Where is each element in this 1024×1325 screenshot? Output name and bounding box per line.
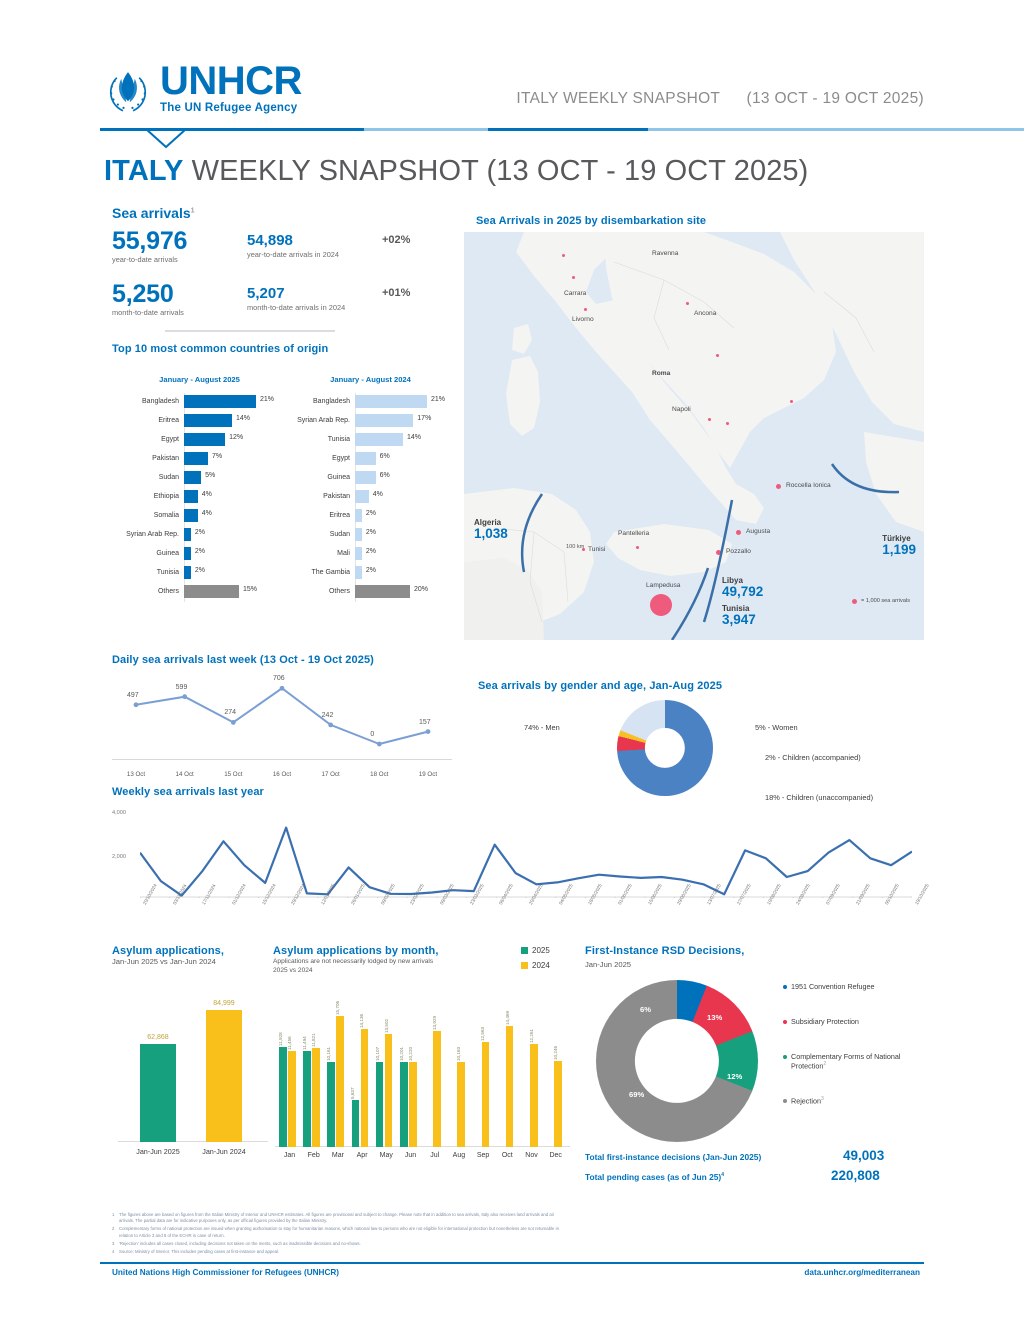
map-route-turkiye-value: 1,199: [882, 543, 916, 558]
monthly-bar-2025: 11,928: [279, 1047, 287, 1147]
top10-bar-row: Pakistan4%: [283, 487, 458, 506]
footnote: 4Source: Ministry of Interior. This incl…: [112, 1249, 562, 1255]
monthly-bar-value: 10,220: [408, 1046, 413, 1060]
top10-bar-label: Egypt: [112, 436, 184, 443]
rsd-pct-rejection: 69%: [629, 1090, 644, 1099]
top10-bar-label: Mali: [283, 550, 355, 557]
top10-bar-value: 2%: [195, 567, 205, 574]
monthly-bar-value: 10,107: [375, 1047, 380, 1061]
top10-bar-fill: [355, 528, 362, 541]
top10-bar-track: 21%: [355, 395, 433, 408]
top10-bar-row: Syrian Arab Rep.2%: [112, 525, 287, 544]
top10-bar-value: 15%: [243, 586, 257, 593]
top10-bar-label: Guinea: [283, 474, 355, 481]
monthly-bar-category: Aug: [453, 1152, 465, 1159]
monthly-legend-2024: 2024: [521, 961, 550, 970]
top10-bar-row: Ethiopia4%: [112, 487, 287, 506]
monthly-bar-2024: 14,136: [361, 1029, 369, 1147]
map-route-algeria: Algeria 1,038: [474, 518, 508, 542]
footnote-number: 2: [112, 1226, 119, 1239]
footnote-text: Source: Ministry of Interior. This inclu…: [119, 1249, 279, 1255]
asylum-bar-chart: 62,868Jan-Jun 202584,999Jan-Jun 2024: [118, 980, 268, 1160]
monthly-bar-value: 11,821: [311, 1033, 316, 1047]
top10-bar-label: Others: [283, 588, 355, 595]
top10-bar-row: Guinea2%: [112, 544, 287, 563]
top10-bar-fill: [355, 471, 376, 484]
top10-bar-row: Guinea6%: [283, 468, 458, 487]
top10-bar-row: Others20%: [283, 582, 458, 601]
rsd-total-value: 49,003: [843, 1148, 884, 1163]
monthly-bar-value: 13,929: [432, 1015, 437, 1029]
daily-point-value: 0: [370, 731, 374, 738]
top10-bar-fill: [184, 566, 191, 579]
footnote-text: 'Rejection' includes all cases closed, i…: [119, 1241, 361, 1247]
rsd-dot-subsidiary-icon: [783, 1020, 787, 1024]
daily-x-tick: 14 Oct: [161, 771, 209, 778]
gender-label-men: 74% - Men: [524, 723, 560, 732]
rsd-subheading: Jan-Jun 2025: [585, 960, 631, 969]
footnotes-list: 1The figures above are based on figures …: [112, 1212, 562, 1257]
top10-bar-row: Mali2%: [283, 544, 458, 563]
top10-bar-row: Egypt6%: [283, 449, 458, 468]
footnote: 1The figures above are based on figures …: [112, 1212, 562, 1225]
header-right-text: ITALY WEEKLY SNAPSHOT (13 OCT - 19 OCT 2…: [516, 90, 924, 108]
map-route-turkiye: Türkiye 1,199: [882, 534, 916, 558]
top10-bar-fill: [355, 452, 376, 465]
map-route-arcs: [464, 232, 924, 640]
weekly-arrivals-chart: 4,000 2,000 20/10/202403/11/202417/11/20…: [112, 802, 912, 934]
rsd-heading: First-Instance RSD Decisions,: [585, 945, 744, 957]
asylum-bar: 62,868Jan-Jun 2025: [140, 1044, 176, 1142]
top10-bar-label: Bangladesh: [283, 398, 355, 405]
monthly-bar-2024: 10,246: [554, 1061, 562, 1147]
monthly-legend: 2025 2024: [521, 946, 550, 976]
disembarkation-map[interactable]: Ravenna Carrara Livorno Ancona Roma Napo…: [464, 232, 924, 640]
map-heading: Sea Arrivals in 2025 by disembarkation s…: [476, 215, 706, 227]
monthly-sub1: Applications are not necessarily lodged …: [273, 958, 433, 965]
weekly-x-tick: 19/10/2025: [914, 883, 930, 905]
gender-donut-hole: [645, 728, 685, 768]
daily-point: [231, 720, 236, 725]
top10-bar-value: 17%: [417, 415, 431, 422]
top10-bar-value: 2%: [366, 567, 376, 574]
monthly-bar-category: Jan: [284, 1152, 295, 1159]
top10-2024-title: January - August 2024: [283, 375, 458, 384]
top10-bar-label: Tunisia: [283, 436, 355, 443]
header-rule-seg-1: [364, 128, 488, 131]
top10-bar-fill: [355, 490, 369, 503]
map-legend: = 1,000 sea arrivals: [852, 598, 910, 604]
asylum-bar-category: Jan-Jun 2025: [136, 1147, 180, 1156]
rsd-legend-item-refugee: 1951 Convention Refugee: [783, 982, 928, 991]
daily-point: [328, 722, 333, 727]
rsd-legend-item-complementary: Complementary Forms of National Protecti…: [783, 1052, 928, 1070]
daily-point: [182, 694, 187, 699]
map-route-libya-value: 49,792: [722, 585, 763, 600]
top10-bar-value: 6%: [380, 453, 390, 460]
top10-bar-fill: [184, 490, 198, 503]
monthly-bar-value: 12,261: [529, 1029, 534, 1043]
top10-bar-fill: [184, 433, 225, 446]
top10-bar-fill: [184, 452, 208, 465]
top10-bar-fill: [184, 528, 191, 541]
rsd-dot-refugee-icon: [783, 985, 787, 989]
top10-bar-fill: [184, 395, 256, 408]
monthly-bar-value: 13,502: [384, 1019, 389, 1033]
top10-bar-fill: [355, 509, 362, 522]
top10-bar-value: 4%: [373, 491, 383, 498]
top10-bar-track: 20%: [355, 585, 433, 598]
top10-bar-track: 14%: [184, 414, 262, 427]
footnote-number: 4: [112, 1249, 119, 1255]
daily-point-value: 242: [322, 712, 334, 719]
rsd-dot-complementary-icon: [783, 1055, 787, 1059]
top10-bar-value: 5%: [205, 472, 215, 479]
top10-bar-label: Pakistan: [112, 455, 184, 462]
top10-bar-label: Pakistan: [283, 493, 355, 500]
rsd-sup-rejection: 3: [821, 1096, 824, 1102]
mtd-change-pct: +01%: [382, 287, 410, 299]
rsd-legend-item-subsidiary: Subsidiary Protection: [783, 1017, 928, 1026]
page-title-country: ITALY: [104, 155, 183, 187]
rsd-legend-item-rejection: Rejection3: [783, 1096, 928, 1105]
monthly-bar-2025: 10,107: [376, 1062, 384, 1147]
daily-point: [134, 702, 139, 707]
header-date-range: (13 OCT - 19 OCT 2025): [747, 90, 924, 107]
top10-bar-value: 7%: [212, 453, 222, 460]
top10-bar-label: Syrian Arab Rep.: [112, 531, 184, 538]
monthly-bar-category: Jun: [405, 1152, 416, 1159]
monthly-bar-chart: 11,92811,456Jan11,49411,821Feb10,16115,7…: [275, 990, 570, 1165]
rsd-pending-label-text: Total pending cases (as of Jun 25): [585, 1172, 721, 1182]
top10-bar-label: Eritrea: [283, 512, 355, 519]
daily-point-value: 157: [419, 719, 431, 726]
monthly-bar-value: 5,637: [350, 1087, 355, 1099]
monthly-bar-category: Jul: [430, 1152, 439, 1159]
top10-bar-track: 15%: [184, 585, 262, 598]
top10-bar-value: 2%: [366, 510, 376, 517]
top10-bar-value: 14%: [236, 415, 250, 422]
top10-bar-track: 2%: [355, 528, 433, 541]
footnote-text: The figures above are based on figures f…: [119, 1212, 562, 1225]
top10-bar-row: Eritrea14%: [112, 411, 287, 430]
top10-bar-fill: [355, 433, 403, 446]
top10-bar-row: Sudan5%: [112, 468, 287, 487]
top10-heading: Top 10 most common countries of origin: [112, 343, 328, 355]
rsd-legend-label-subsidiary: Subsidiary Protection: [791, 1017, 859, 1026]
top10-bar-label: Guinea: [112, 550, 184, 557]
daily-point: [426, 729, 431, 734]
asylum-bar-category: Jan-Jun 2024: [202, 1147, 246, 1156]
gender-label-children-unaccompanied: 18% - Children (unaccompanied): [765, 793, 873, 802]
top10-bar-fill: [355, 566, 362, 579]
gender-label-women: 5% - Women: [755, 723, 798, 732]
monthly-bar-value: 12,563: [480, 1027, 485, 1041]
top10-bar-row: Bangladesh21%: [283, 392, 458, 411]
footer-url[interactable]: data.unhcr.org/mediterranean: [804, 1268, 920, 1277]
top10-bar-track: 2%: [355, 547, 433, 560]
sea-arrivals-heading-text: Sea arrivals: [112, 205, 191, 221]
daily-x-labels: 13 Oct14 Oct15 Oct16 Oct17 Oct18 Oct19 O…: [112, 771, 452, 778]
monthly-bar-category: Dec: [549, 1152, 561, 1159]
daily-point-value: 497: [127, 692, 139, 699]
page-header: UNHCR The UN Refugee Agency ITALY WEEKLY…: [100, 62, 924, 134]
monthly-bar-value: 15,706: [335, 1001, 340, 1015]
asylum-bar-fill: [206, 1010, 242, 1142]
monthly-bar-value: 10,163: [456, 1047, 461, 1061]
monthly-bar-2025: 10,161: [327, 1062, 335, 1147]
daily-heading: Daily sea arrivals last week (13 Oct - 1…: [112, 654, 374, 666]
top10-bar-value: 4%: [202, 510, 212, 517]
daily-x-tick: 18 Oct: [355, 771, 403, 778]
mtd-2024-block: 5,207 month-to-date arrivals in 2024: [247, 285, 345, 312]
daily-point: [280, 686, 285, 691]
top10-bar-value: 6%: [380, 472, 390, 479]
top10-bar-row: Tunisia14%: [283, 430, 458, 449]
top10-bar-track: 4%: [355, 490, 433, 503]
top10-bar-row: Others15%: [112, 582, 287, 601]
daily-arrivals-chart: 4975992747062420157 13 Oct14 Oct15 Oct16…: [112, 672, 452, 782]
top10-bar-track: 17%: [355, 414, 433, 427]
top10-bar-track: 21%: [184, 395, 262, 408]
daily-point: [377, 742, 382, 747]
footer-rule: [100, 1262, 924, 1264]
rsd-sup-complementary: 2: [823, 1061, 826, 1067]
top10-bar-value: 20%: [414, 586, 428, 593]
rsd-legend: 1951 Convention Refugee Subsidiary Prote…: [783, 982, 928, 1132]
top10-2025-title: January - August 2025: [112, 375, 287, 384]
daily-x-tick: 16 Oct: [258, 771, 306, 778]
gender-label-children-accompanied: 2% - Children (accompanied): [765, 753, 861, 762]
monthly-bar-2024: 15,706: [336, 1016, 344, 1147]
page-title-rest: WEEKLY SNAPSHOT (13 OCT - 19 OCT 2025): [192, 155, 809, 187]
top10-bar-value: 21%: [431, 396, 445, 403]
top10-bar-label: Egypt: [283, 455, 355, 462]
top10-bar-row: Egypt12%: [112, 430, 287, 449]
top10-bar-row: Tunisia2%: [112, 563, 287, 582]
rsd-legend-label-rejection: Rejection: [791, 1097, 821, 1106]
ytd-2024-caption: year-to-date arrivals in 2024: [247, 250, 339, 259]
asylum-heading: Asylum applications,: [112, 945, 224, 957]
monthly-bar-2024: 10,163: [457, 1062, 465, 1147]
top10-bar-row: The Gambia2%: [283, 563, 458, 582]
monthly-bar-category: Sep: [477, 1152, 489, 1159]
top10-bar-track: 2%: [184, 528, 262, 541]
top10-bar-fill: [355, 395, 427, 408]
top10-bar-value: 2%: [366, 548, 376, 555]
monthly-bar-category: Feb: [308, 1152, 320, 1159]
monthly-bar-2024: 12,563: [482, 1042, 490, 1147]
top10-bar-label: Bangladesh: [112, 398, 184, 405]
monthly-bar-value: 14,469: [505, 1011, 510, 1025]
rsd-donut-hole: [635, 1019, 719, 1103]
rsd-donut-chart: [596, 980, 758, 1142]
sea-arrivals-heading: Sea arrivals1: [112, 205, 452, 221]
sea-arrivals-footnote-ref: 1: [191, 207, 195, 214]
rsd-legend-label-complementary: Complementary Forms of National Protecti…: [791, 1052, 900, 1070]
map-route-tunisia: Tunisia 3,947: [722, 604, 756, 628]
top10-bar-track: 2%: [184, 566, 262, 579]
daily-point-value: 599: [176, 684, 188, 691]
top10-bar-track: 2%: [355, 509, 433, 522]
header-rule: [100, 128, 924, 150]
unhcr-logo: UNHCR The UN Refugee Agency: [100, 62, 302, 118]
footnote-text: Complementary forms of national protecti…: [119, 1226, 562, 1239]
map-legend-label: = 1,000 sea arrivals: [861, 598, 910, 604]
monthly-bar-value: 11,456: [287, 1036, 292, 1050]
mtd-2024-value: 5,207: [247, 285, 345, 302]
page-title: ITALY WEEKLY SNAPSHOT (13 OCT - 19 OCT 2…: [104, 155, 808, 188]
top10-bar-row: Bangladesh21%: [112, 392, 287, 411]
rsd-pct-complementary: 12%: [727, 1072, 742, 1081]
weekly-x-labels: 20/10/202403/11/202417/11/202401/12/2024…: [140, 897, 912, 937]
top10-bar-label: Syrian Arab Rep.: [283, 417, 355, 424]
header-rule-seg-2: [648, 128, 1024, 131]
monthly-bar-category: Mar: [332, 1152, 344, 1159]
top10-bar-track: 6%: [355, 452, 433, 465]
top10-bar-value: 14%: [407, 434, 421, 441]
header-snapshot-label: ITALY WEEKLY SNAPSHOT: [516, 90, 720, 107]
top10-bar-value: 4%: [202, 491, 212, 498]
kpi-divider: [165, 330, 335, 332]
map-route-libya: Libya 49,792: [722, 576, 763, 600]
monthly-bar-category: Apr: [357, 1152, 368, 1159]
kpi-row-mtd: 5,250 month-to-date arrivals 5,207 month…: [112, 281, 452, 327]
monthly-bar-value: 10,246: [553, 1046, 558, 1060]
top10-bar-track: 5%: [184, 471, 262, 484]
monthly-bar-2024: 11,456: [288, 1051, 296, 1147]
top10-bar-row: Somalia4%: [112, 506, 287, 525]
sea-arrivals-kpi: Sea arrivals1 55,976 year-to-date arriva…: [112, 205, 452, 327]
logo-title: UNHCR: [160, 62, 302, 100]
asylum-bar-value: 62,868: [147, 1034, 168, 1041]
map-route-tunisia-value: 3,947: [722, 613, 756, 628]
monthly-bar-value: 10,201: [399, 1047, 404, 1061]
logo-subtitle: The UN Refugee Agency: [160, 102, 302, 114]
monthly-bar-2024: 12,261: [530, 1044, 538, 1147]
weekly-line-graphic: [140, 802, 912, 898]
monthly-sub2: 2025 vs 2024: [273, 967, 313, 974]
rsd-dot-rejection-icon: [783, 1099, 787, 1103]
top10-bar-fill: [184, 547, 191, 560]
monthly-bar-value: 10,161: [326, 1047, 331, 1061]
gender-donut-chart: [617, 700, 713, 796]
weekly-ytick-2000: 2,000: [112, 854, 126, 860]
map-scale-label: 100 km: [566, 544, 584, 550]
ytd-2024-block: 54,898 year-to-date arrivals in 2024: [247, 232, 339, 259]
monthly-bar-value: 11,928: [278, 1033, 283, 1047]
top10-bar-value: 21%: [260, 396, 274, 403]
daily-x-tick: 13 Oct: [112, 771, 160, 778]
monthly-bar-category: Nov: [525, 1152, 537, 1159]
top10-chart-2024: January - August 2024 Bangladesh21%Syria…: [283, 375, 458, 601]
monthly-bar-2024: 11,821: [312, 1048, 320, 1147]
top10-bar-fill: [355, 414, 413, 427]
monthly-bar-category: Oct: [502, 1152, 513, 1159]
asylum-bar: 84,999Jan-Jun 2024: [206, 1010, 242, 1142]
top10-bar-track: 12%: [184, 433, 262, 446]
legend-swatch-2025-icon: [521, 947, 528, 954]
daily-axis: [112, 759, 452, 760]
daily-point-value: 706: [273, 675, 285, 682]
top10-bar-label: Eritrea: [112, 417, 184, 424]
top10-bar-fill: [184, 414, 232, 427]
rsd-pending-sup: 4: [721, 1172, 724, 1178]
weekly-ytick-4000: 4,000: [112, 810, 126, 816]
rsd-total-label: Total first-instance decisions (Jan-Jun …: [585, 1152, 761, 1162]
daily-x-tick: 15 Oct: [209, 771, 257, 778]
top10-bar-label: Somalia: [112, 512, 184, 519]
top10-bar-fill: [184, 471, 201, 484]
daily-x-tick: 19 Oct: [404, 771, 452, 778]
monthly-heading: Asylum applications by month,: [273, 945, 438, 957]
monthly-legend-2025: 2025: [521, 946, 550, 955]
footnote: 3'Rejection' includes all cases closed, …: [112, 1241, 562, 1247]
top10-bar-value: 2%: [366, 529, 376, 536]
snapshot-page: UNHCR The UN Refugee Agency ITALY WEEKLY…: [0, 0, 1024, 1325]
legend-label-2024: 2024: [532, 961, 550, 970]
top10-bar-fill: [355, 547, 362, 560]
top10-bar-label: The Gambia: [283, 569, 355, 576]
top10-bar-fill: [355, 585, 410, 598]
top10-bar-track: 6%: [355, 471, 433, 484]
footnote-number: 3: [112, 1241, 119, 1247]
monthly-bar-2025: 5,637: [352, 1100, 360, 1147]
monthly-bar-category: May: [380, 1152, 393, 1159]
rsd-pending-value: 220,808: [831, 1168, 880, 1183]
top10-bar-track: 2%: [184, 547, 262, 560]
monthly-bar-value: 11,494: [302, 1036, 307, 1050]
asylum-bar-fill: [140, 1044, 176, 1142]
top10-bar-row: Pakistan7%: [112, 449, 287, 468]
top10-bar-track: 2%: [355, 566, 433, 579]
top10-bar-track: 14%: [355, 433, 433, 446]
mtd-2024-caption: month-to-date arrivals in 2024: [247, 303, 345, 312]
daily-point-value: 274: [224, 709, 236, 716]
top10-bar-fill: [184, 509, 198, 522]
top10-bar-label: Sudan: [283, 531, 355, 538]
top10-bar-label: Tunisia: [112, 569, 184, 576]
monthly-bar-2025: 10,201: [400, 1062, 408, 1147]
rsd-pct-subsidiary: 13%: [707, 1013, 722, 1022]
monthly-bar-2024: 10,220: [409, 1062, 417, 1147]
top10-bar-label: Ethiopia: [112, 493, 184, 500]
asylum-bar-value: 84,999: [213, 1000, 234, 1007]
kpi-row-ytd: 55,976 year-to-date arrivals 54,898 year…: [112, 228, 452, 274]
daily-x-tick: 17 Oct: [307, 771, 355, 778]
map-route-algeria-value: 1,038: [474, 527, 508, 542]
rsd-legend-label-refugee: 1951 Convention Refugee: [791, 982, 875, 991]
gender-heading: Sea arrivals by gender and age, Jan-Aug …: [478, 680, 722, 692]
top10-chart-2025: January - August 2025 Bangladesh21%Eritr…: [112, 375, 287, 601]
header-notch-icon: [146, 129, 186, 149]
top10-bar-row: Eritrea2%: [283, 506, 458, 525]
monthly-bar-2024: 14,469: [506, 1026, 514, 1147]
top10-bar-value: 2%: [195, 548, 205, 555]
unhcr-emblem-icon: [100, 62, 156, 118]
top10-bar-label: Sudan: [112, 474, 184, 481]
rsd-pending-label: Total pending cases (as of Jun 25)4: [585, 1172, 724, 1182]
top10-bar-row: Syrian Arab Rep.17%: [283, 411, 458, 430]
monthly-bar-2025: 11,494: [303, 1051, 311, 1147]
monthly-bar-2024: 13,929: [433, 1031, 441, 1147]
legend-label-2025: 2025: [532, 946, 550, 955]
top10-bar-track: 4%: [184, 509, 262, 522]
top10-bar-row: Sudan2%: [283, 525, 458, 544]
top10-bar-value: 2%: [195, 529, 205, 536]
top10-bar-track: 7%: [184, 452, 262, 465]
asylum-subheading: Jan-Jun 2025 vs Jan-Jun 2024: [112, 957, 216, 966]
